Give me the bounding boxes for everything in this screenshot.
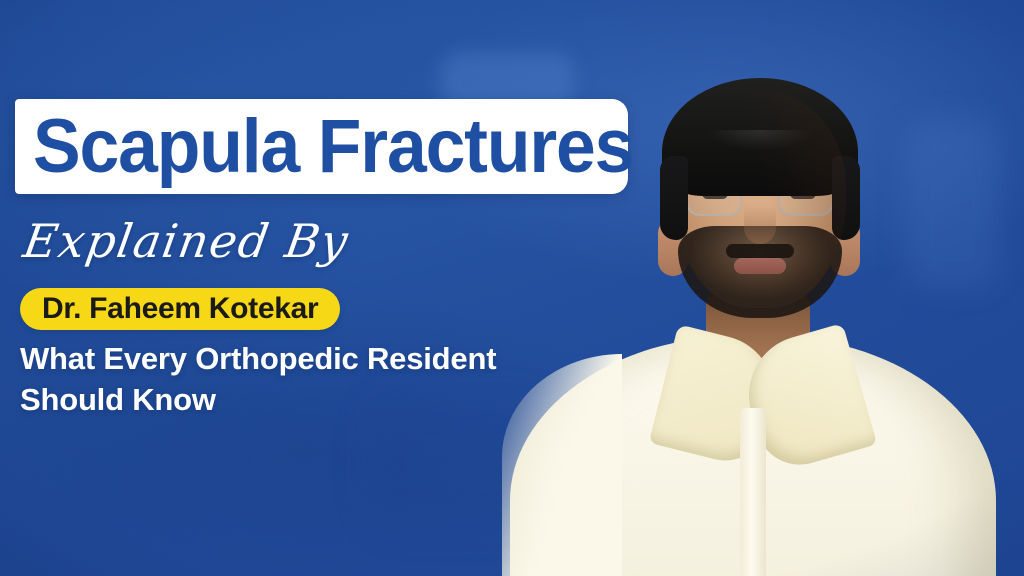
subtitle: What Every Orthopedic Resident Should Kn… [20, 338, 620, 420]
subtitle-line-2: Should Know [20, 379, 620, 420]
title-plate: Scapula Fractures [15, 99, 628, 194]
explained-by-label: Explained By [20, 218, 352, 264]
page-title: Scapula Fractures [33, 112, 633, 182]
video-thumbnail: Scapula Fractures Explained By Dr. Fahee… [0, 0, 1024, 576]
presenter-name-badge: Dr. Faheem Kotekar [20, 288, 340, 330]
subtitle-line-1: What Every Orthopedic Resident [20, 341, 496, 376]
presenter-name: Dr. Faheem Kotekar [42, 294, 318, 324]
